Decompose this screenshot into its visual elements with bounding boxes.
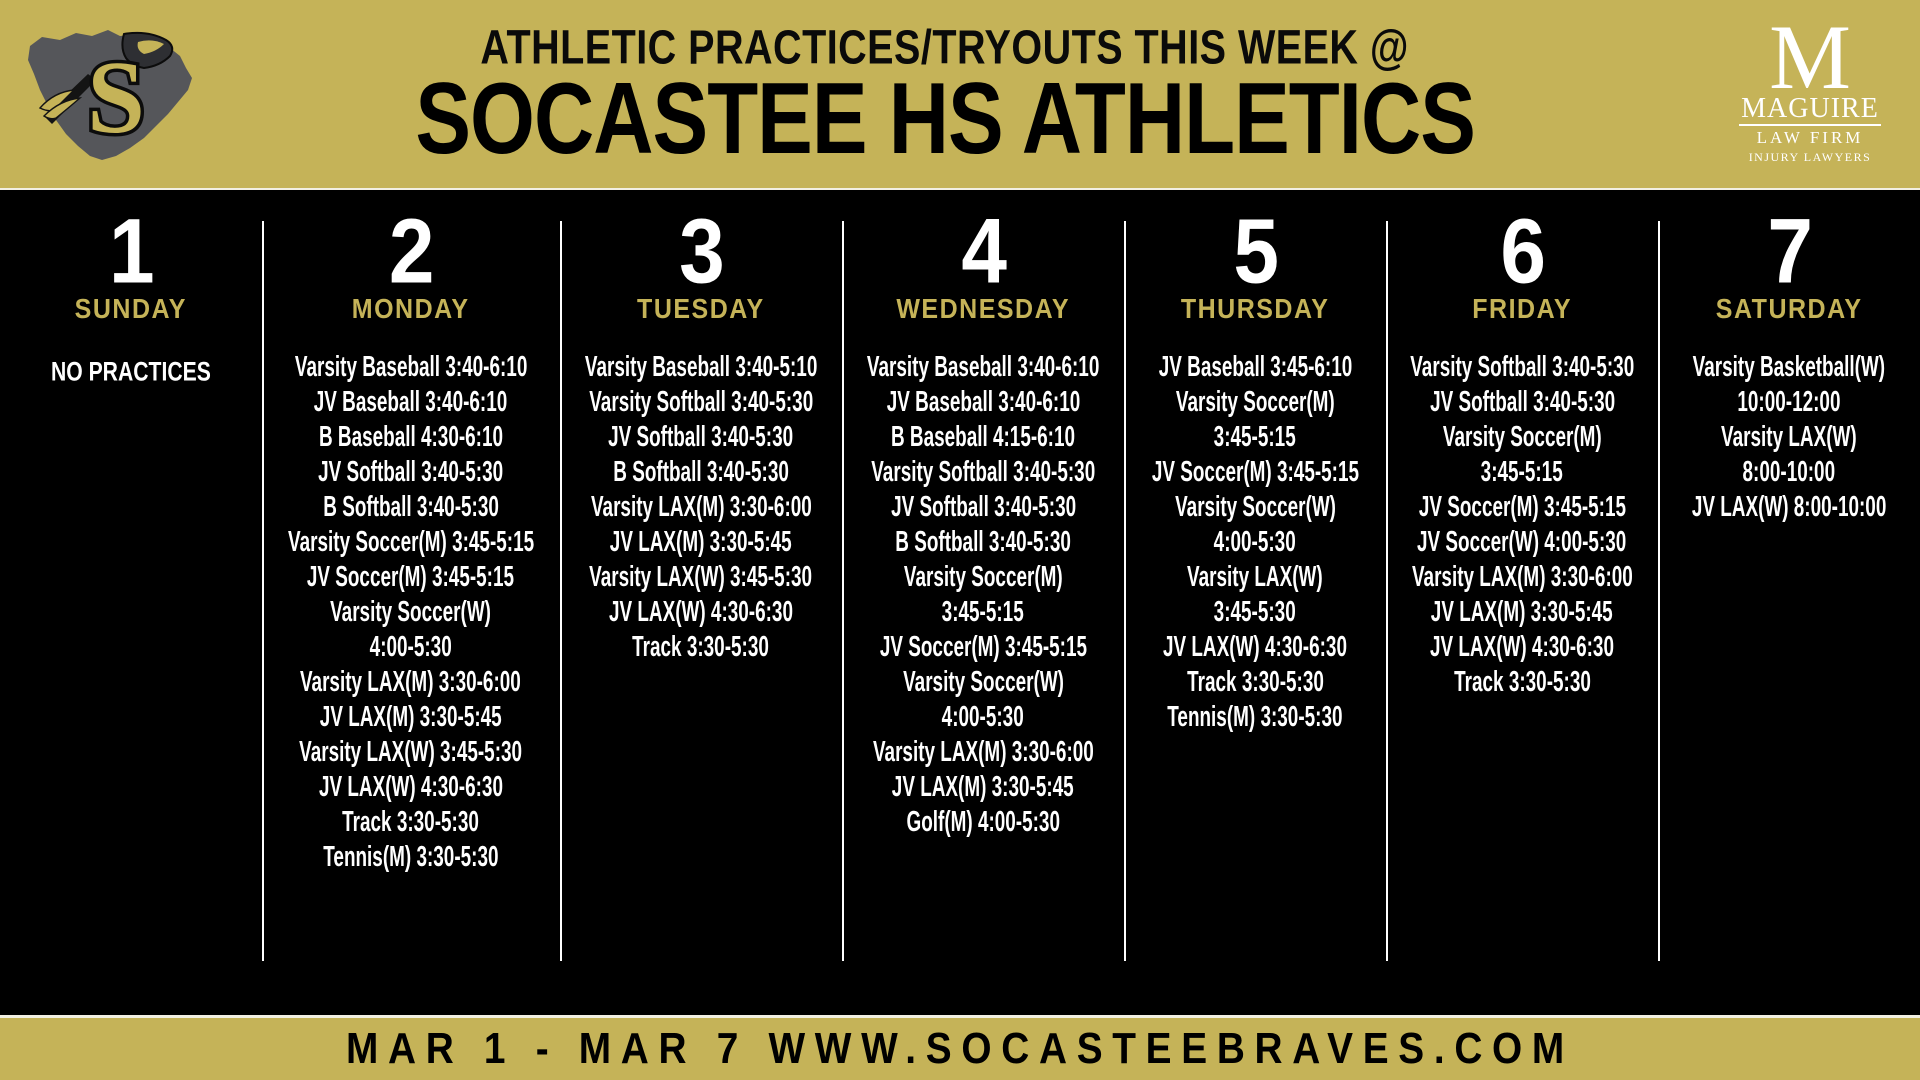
day-column-monday: 2 MONDAY Varsity Baseball 3:40-6:10JV Ba… xyxy=(262,219,560,1006)
practice-event: B Softball 3:40-5:30 xyxy=(323,493,499,522)
event-list: Varsity Baseball 3:40-5:10Varsity Softba… xyxy=(566,356,836,671)
practice-event: Varsity LAX(M) 3:30-6:00 xyxy=(1412,563,1633,592)
practice-event: Varsity Soccer(M) xyxy=(904,563,1063,592)
event-list: JV Baseball 3:45-6:10Varsity Soccer(M)3:… xyxy=(1130,356,1380,741)
week-grid: 1 SUNDAY NO PRACTICES 2 MONDAY Varsity B… xyxy=(0,197,1920,1006)
practice-event: JV Baseball 3:40-6:10 xyxy=(314,388,508,417)
day-column-wednesday: 4 WEDNESDAY Varsity Baseball 3:40-6:10JV… xyxy=(842,219,1124,1006)
footer-date-and-website: MAR 1 - MAR 7 WWW.SOCASTEEBRAVES.COM xyxy=(346,1025,1574,1074)
practice-event: JV LAX(W) 4:30-6:30 xyxy=(1430,633,1614,662)
event-list: Varsity Baseball 3:40-6:10JV Baseball 3:… xyxy=(268,356,554,881)
practice-event: JV Baseball 3:40-6:10 xyxy=(886,388,1080,417)
day-name: FRIDAY xyxy=(1472,295,1572,326)
practice-event: Varsity Baseball 3:40-5:10 xyxy=(585,353,817,382)
sponsor-monogram-icon: M xyxy=(1769,21,1851,95)
event-list: Varsity Basketball(W)10:00-12:00Varsity … xyxy=(1664,356,1914,531)
day-number: 6 xyxy=(1500,210,1544,294)
event-list: Varsity Baseball 3:40-6:10JV Baseball 3:… xyxy=(848,356,1118,846)
day-number: 7 xyxy=(1767,210,1811,294)
practice-event: Track 3:30-5:30 xyxy=(1187,668,1324,697)
svg-text:S: S xyxy=(87,40,145,155)
practice-event: Varsity Basketball(W) xyxy=(1693,353,1885,382)
practice-event: JV LAX(M) 3:30-5:45 xyxy=(892,773,1074,802)
practice-event: NO PRACTICES xyxy=(51,358,211,385)
day-name: TUESDAY xyxy=(637,295,765,326)
day-column-saturday: 7 SATURDAY Varsity Basketball(W)10:00-12… xyxy=(1658,219,1920,1006)
practice-event: 3:45-5:15 xyxy=(942,598,1024,627)
day-column-tuesday: 3 TUESDAY Varsity Baseball 3:40-5:10Vars… xyxy=(560,219,842,1006)
practice-event: JV LAX(W) 4:30-6:30 xyxy=(319,773,503,802)
practice-event: JV Softball 3:40-5:30 xyxy=(318,458,503,487)
practice-event: B Baseball 4:30-6:10 xyxy=(319,423,503,452)
practice-event: Tennis(M) 3:30-5:30 xyxy=(1167,703,1342,732)
practice-event: Varsity LAX(W) 3:45-5:30 xyxy=(299,738,522,767)
day-number: 3 xyxy=(679,210,723,294)
practice-event: 4:00-5:30 xyxy=(942,703,1024,732)
day-name: THURSDAY xyxy=(1181,295,1330,326)
practice-event: Varsity Soccer(M) xyxy=(1443,423,1602,452)
sponsor-name: MAGUIRE xyxy=(1739,95,1881,126)
practice-event: JV Soccer(W) 4:00-5:30 xyxy=(1418,528,1627,557)
day-name: WEDNESDAY xyxy=(896,295,1070,326)
practice-event: Varsity LAX(M) 3:30-6:00 xyxy=(590,493,811,522)
practice-event: JV Softball 3:40-5:30 xyxy=(891,493,1076,522)
practice-event: Varsity Soccer(M) xyxy=(1176,388,1335,417)
practice-event: JV Soccer(M) 3:45-5:15 xyxy=(880,633,1087,662)
practice-event: Varsity Soccer(W) xyxy=(903,668,1064,697)
practice-event: B Baseball 4:15-6:10 xyxy=(891,423,1075,452)
day-column-friday: 6 FRIDAY Varsity Softball 3:40-5:30JV So… xyxy=(1386,219,1658,1006)
practice-event: B Softball 3:40-5:30 xyxy=(613,458,789,487)
practice-event: 3:45-5:15 xyxy=(1481,458,1563,487)
poster-footer: MAR 1 - MAR 7 WWW.SOCASTEEBRAVES.COM xyxy=(0,1018,1920,1080)
practice-event: Varsity LAX(W) 3:45-5:30 xyxy=(589,563,812,592)
practice-event: JV LAX(M) 3:30-5:45 xyxy=(320,703,502,732)
sponsor-subtagline: INJURY LAWYERS xyxy=(1749,151,1872,163)
weekly-schedule-poster: S ATHLETIC PRACTICES/TRYOUTS THIS WEEK @… xyxy=(0,0,1920,1080)
practice-event: JV Soccer(M) 3:45-5:15 xyxy=(1419,493,1626,522)
poster-header: S ATHLETIC PRACTICES/TRYOUTS THIS WEEK @… xyxy=(0,0,1920,188)
page-title: SOCASTEE HS ATHLETICS xyxy=(415,68,1475,169)
practice-event: Varsity LAX(M) 3:30-6:00 xyxy=(300,668,521,697)
sponsor-logo: M MAGUIRE LAW FIRM INJURY LAWYERS xyxy=(1700,0,1920,188)
header-title-block: ATHLETIC PRACTICES/TRYOUTS THIS WEEK @ S… xyxy=(230,27,1700,162)
day-number: 1 xyxy=(109,210,153,294)
practice-event: 4:00-5:30 xyxy=(370,633,452,662)
day-name: SUNDAY xyxy=(75,295,187,326)
day-name: SATURDAY xyxy=(1716,295,1863,326)
practice-event: Varsity LAX(W) xyxy=(1187,563,1323,592)
practice-event: Tennis(M) 3:30-5:30 xyxy=(323,843,498,872)
event-list: NO PRACTICES xyxy=(6,360,256,396)
practice-event: JV Softball 3:40-5:30 xyxy=(608,423,793,452)
practice-event: 8:00-10:00 xyxy=(1743,458,1836,487)
practice-event: B Softball 3:40-5:30 xyxy=(895,528,1071,557)
practice-event: JV Soccer(M) 3:45-5:15 xyxy=(307,563,514,592)
practice-event: Varsity LAX(M) 3:30-6:00 xyxy=(873,738,1094,767)
practice-event: Varsity LAX(W) xyxy=(1721,423,1857,452)
footer-divider xyxy=(0,1006,1920,1018)
practice-event: Varsity Soccer(M) 3:45-5:15 xyxy=(288,528,534,557)
south-carolina-braves-logo-icon: S xyxy=(20,16,210,176)
practice-event: 10:00-12:00 xyxy=(1738,388,1841,417)
practice-event: Varsity Soccer(W) xyxy=(1175,493,1336,522)
practice-event: Track 3:30-5:30 xyxy=(342,808,479,837)
practice-event: JV Soccer(M) 3:45-5:15 xyxy=(1152,458,1359,487)
practice-event: Varsity Softball 3:40-5:30 xyxy=(589,388,813,417)
event-list: Varsity Softball 3:40-5:30JV Softball 3:… xyxy=(1392,356,1652,706)
practice-event: Varsity Baseball 3:40-6:10 xyxy=(294,353,526,382)
header-divider xyxy=(0,188,1920,197)
day-number: 4 xyxy=(961,210,1005,294)
practice-event: JV LAX(W) 8:00-10:00 xyxy=(1692,493,1887,522)
day-column-sunday: 1 SUNDAY NO PRACTICES xyxy=(0,219,262,1006)
practice-event: Track 3:30-5:30 xyxy=(1454,668,1591,697)
practice-event: JV LAX(M) 3:30-5:45 xyxy=(1431,598,1613,627)
practice-event: 3:45-5:30 xyxy=(1214,598,1296,627)
sponsor-tagline: LAW FIRM xyxy=(1757,129,1864,146)
practice-event: Track 3:30-5:30 xyxy=(633,633,770,662)
practice-event: 3:45-5:15 xyxy=(1214,423,1296,452)
practice-event: Varsity Softball 3:40-5:30 xyxy=(1410,353,1634,382)
school-logo: S xyxy=(0,0,230,188)
practice-event: 4:00-5:30 xyxy=(1214,528,1296,557)
day-number: 5 xyxy=(1233,210,1277,294)
practice-event: Varsity Baseball 3:40-6:10 xyxy=(867,353,1099,382)
practice-event: JV LAX(M) 3:30-5:45 xyxy=(610,528,792,557)
day-name: MONDAY xyxy=(352,295,470,326)
practice-event: JV LAX(W) 4:30-6:30 xyxy=(609,598,793,627)
practice-event: JV Softball 3:40-5:30 xyxy=(1430,388,1615,417)
practice-event: JV LAX(W) 4:30-6:30 xyxy=(1163,633,1347,662)
practice-event: Varsity Soccer(W) xyxy=(330,598,491,627)
day-column-thursday: 5 THURSDAY JV Baseball 3:45-6:10Varsity … xyxy=(1124,219,1386,1006)
practice-event: Golf(M) 4:00-5:30 xyxy=(906,808,1059,837)
practice-event: JV Baseball 3:45-6:10 xyxy=(1158,353,1352,382)
practice-event: Varsity Softball 3:40-5:30 xyxy=(871,458,1095,487)
day-number: 2 xyxy=(389,210,433,294)
